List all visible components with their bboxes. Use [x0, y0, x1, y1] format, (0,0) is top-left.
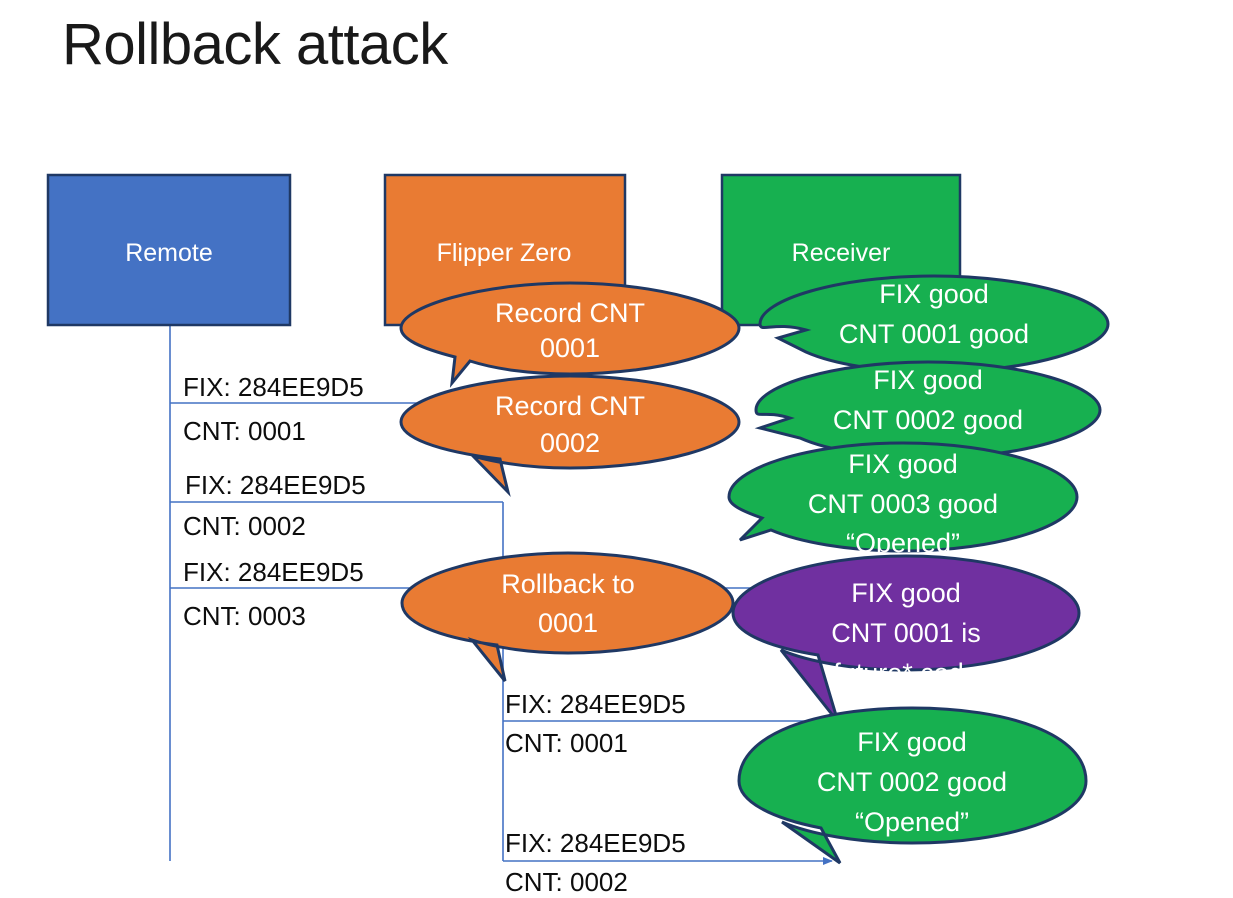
callout-line: Record CNT — [495, 298, 645, 328]
message-cnt-label: CNT: 0001 — [505, 728, 628, 758]
actor-label-flipper: Flipper Zero — [437, 239, 572, 267]
message-cnt-label: CNT: 0002 — [183, 511, 306, 541]
callout-line: FIX good — [848, 449, 958, 479]
callout-line: 0001 — [540, 333, 600, 363]
callout-line: 0002 — [540, 428, 600, 458]
callout-line: CNT 0002 good — [817, 767, 1007, 797]
callout-line: CNT 0001 is — [831, 618, 981, 648]
callout-line: Rollback to — [501, 569, 635, 599]
callout-line: 0001 — [538, 608, 598, 638]
message-cnt-label: CNT: 0002 — [505, 867, 628, 897]
message-fix-label: FIX: 284EE9D5 — [185, 470, 366, 500]
message-cnt-label: CNT: 0001 — [183, 416, 306, 446]
callout-line: CNT 0001 good — [839, 319, 1029, 349]
callout-receiver-cnt-0001-future[interactable]: FIX good CNT 0001 is future* code — [733, 556, 1079, 722]
actor-label-remote: Remote — [125, 239, 213, 267]
message-cnt-label: CNT: 0003 — [183, 601, 306, 631]
callout-line: “Opened” — [846, 528, 960, 558]
callout-flipper-rollback-0001[interactable]: Rollback to 0001 — [402, 553, 733, 681]
callout-flipper-record-0002[interactable]: Record CNT 0002 — [401, 376, 739, 492]
message-fix-label: FIX: 284EE9D5 — [183, 372, 364, 402]
slide-canvas: Rollback attack Remote Flipper Zero Rece… — [0, 0, 1233, 898]
callout-line: FIX good — [879, 279, 989, 309]
callout-line: future* code — [833, 658, 979, 688]
diagram-svg: Remote Flipper Zero Receiver Record CNT … — [0, 0, 1233, 898]
callout-line: FIX good — [851, 578, 961, 608]
callout-line: Record CNT — [495, 391, 645, 421]
callout-line: FIX good — [857, 727, 967, 757]
callout-line: FIX good — [873, 365, 983, 395]
callout-receiver-cnt-0003-opened[interactable]: FIX good CNT 0003 good “Opened” — [729, 443, 1077, 558]
callout-line: “Opened” — [855, 807, 969, 837]
callout-receiver-cnt-0001-good[interactable]: FIX good CNT 0001 good — [760, 276, 1108, 372]
message-fix-label: FIX: 284EE9D5 — [505, 828, 686, 858]
callout-receiver-cnt-0002-opened[interactable]: FIX good CNT 0002 good “Opened” — [739, 708, 1086, 863]
message-fix-label: FIX: 284EE9D5 — [183, 557, 364, 587]
callout-line: CNT 0002 good — [833, 405, 1023, 435]
message-fix-label: FIX: 284EE9D5 — [505, 689, 686, 719]
actor-label-receiver: Receiver — [792, 239, 891, 267]
callout-flipper-record-0001[interactable]: Record CNT 0001 — [401, 283, 739, 383]
callout-line: CNT 0003 good — [808, 489, 998, 519]
